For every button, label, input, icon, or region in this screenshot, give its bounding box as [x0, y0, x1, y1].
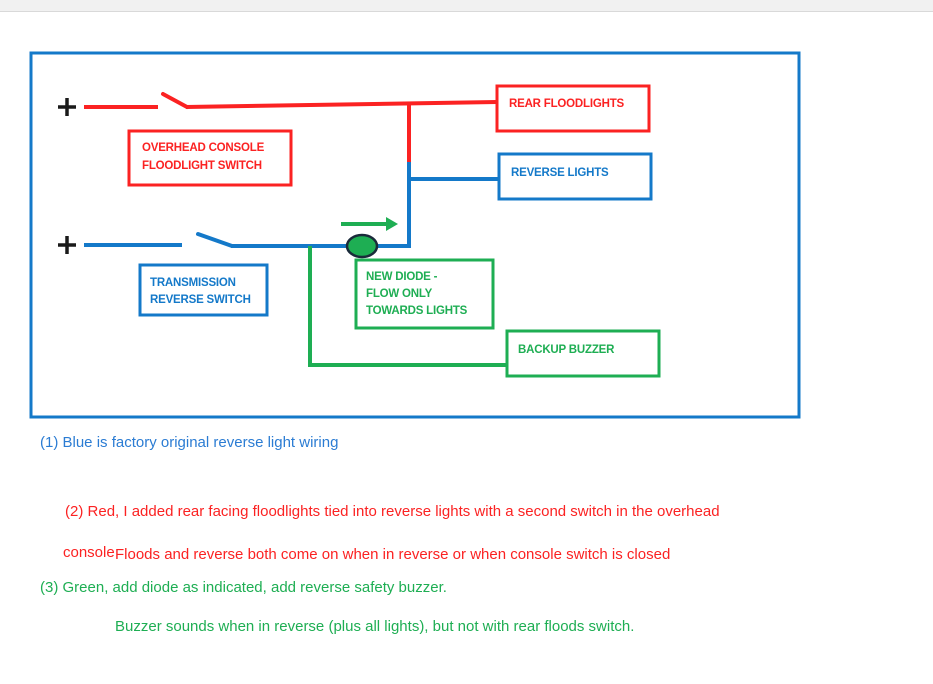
- rear-floodlights-label: REAR FLOODLIGHTS: [509, 98, 625, 110]
- legend-item-1: (1) Blue is factory original reverse lig…: [40, 433, 880, 453]
- label-reverse-lights[interactable]: REVERSE LIGHTS: [499, 154, 651, 199]
- page-root: OVERHEAD CONSOLE FLOODLIGHT SWITCH REAR …: [0, 0, 933, 684]
- overhead-console-switch-line1: OVERHEAD CONSOLE: [142, 142, 265, 154]
- wiring-diagram-container: OVERHEAD CONSOLE FLOODLIGHT SWITCH REAR …: [0, 12, 933, 432]
- legend-item-3-note: Buzzer sounds when in reverse (plus all …: [115, 617, 905, 637]
- positive-terminal-blue: [58, 236, 76, 254]
- label-overhead-console-switch[interactable]: OVERHEAD CONSOLE FLOODLIGHT SWITCH: [129, 131, 291, 185]
- new-diode-line3: TOWARDS LIGHTS: [366, 305, 468, 317]
- transmission-reverse-switch-line2: REVERSE SWITCH: [150, 294, 251, 306]
- backup-buzzer-label: BACKUP BUZZER: [518, 344, 615, 356]
- positive-terminal-red: [58, 98, 76, 116]
- legend-item-3: (3) Green, add diode as indicated, add r…: [40, 578, 880, 598]
- new-diode-line1: NEW DIODE -: [366, 271, 438, 283]
- label-new-diode[interactable]: NEW DIODE - FLOW ONLY TOWARDS LIGHTS: [356, 260, 493, 328]
- overhead-console-switch-symbol: [163, 94, 187, 107]
- label-transmission-reverse-switch[interactable]: TRANSMISSION REVERSE SWITCH: [140, 265, 267, 315]
- transmission-reverse-switch-symbol: [198, 234, 232, 246]
- label-rear-floodlights[interactable]: REAR FLOODLIGHTS: [497, 86, 649, 131]
- wiring-diagram-svg: OVERHEAD CONSOLE FLOODLIGHT SWITCH REAR …: [0, 12, 933, 432]
- current-flow-arrow: [341, 217, 398, 231]
- legend-item-2-main: (2) Red, I added rear facing floodlights…: [65, 503, 720, 520]
- window-header-bar: [0, 0, 933, 12]
- label-backup-buzzer[interactable]: BACKUP BUZZER: [507, 331, 659, 376]
- diode-node-ellipse: [347, 235, 377, 257]
- legend-item-2-note: Floods and reverse both come on when in …: [115, 545, 905, 565]
- transmission-reverse-switch-line1: TRANSMISSION: [150, 277, 236, 289]
- red-wire-to-floodlights: [186, 102, 497, 107]
- overhead-console-switch-line2: FLOODLIGHT SWITCH: [142, 160, 262, 172]
- new-diode-line2: FLOW ONLY: [366, 288, 433, 300]
- reverse-lights-label: REVERSE LIGHTS: [511, 167, 609, 179]
